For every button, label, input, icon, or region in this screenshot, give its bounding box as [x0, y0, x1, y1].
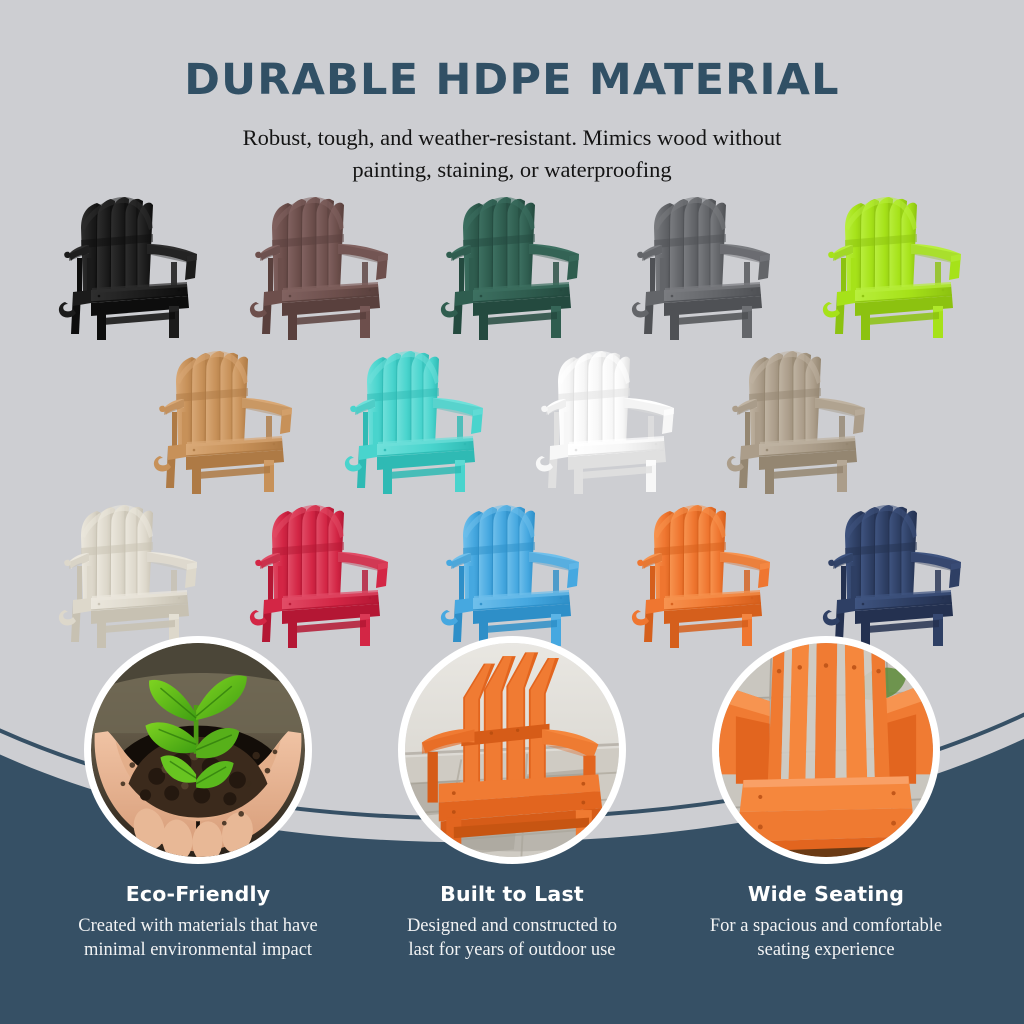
feature-desc-line-2: minimal environmental impact: [73, 938, 323, 962]
feature-desc-line-2: seating experience: [701, 938, 951, 962]
adirondack-chair-ivory-beige: [47, 500, 214, 650]
adirondack-chair-lime-green: [811, 192, 978, 342]
feature-title: Eco-Friendly: [73, 882, 323, 906]
feature-title: Wide Seating: [701, 882, 951, 906]
chair-swatch-orange[interactable]: [620, 500, 787, 650]
subtitle-line-2: painting, staining, or waterproofing: [0, 154, 1024, 186]
feature-desc-line-1: For a spacious and comfortable: [701, 914, 951, 938]
chair-swatch-weathered-taupe[interactable]: [715, 346, 882, 496]
feature-image-circle-2: [398, 636, 626, 864]
feature-wide-seating: Wide Seating For a spacious and comforta…: [701, 636, 951, 962]
chair-swatch-turquoise[interactable]: [333, 346, 500, 496]
feature-title: Built to Last: [387, 882, 637, 906]
subtitle-line-1: Robust, tough, and weather-resistant. Mi…: [0, 122, 1024, 154]
orange-adirondack-chair-on-patio-icon: [405, 643, 619, 857]
adirondack-chair-orange: [620, 500, 787, 650]
adirondack-chair-black: [47, 192, 214, 342]
chair-swatch-navy-blue[interactable]: [811, 500, 978, 650]
feature-description: For a spacious and comfortable seating e…: [701, 914, 951, 962]
feature-eco-friendly: Eco-Friendly Created with materials that…: [73, 636, 323, 962]
chair-swatch-red[interactable]: [238, 500, 405, 650]
page-subtitle: Robust, tough, and weather-resistant. Mi…: [0, 122, 1024, 186]
adirondack-chair-cedar-tan: [142, 346, 309, 496]
adirondack-chair-sky-blue: [429, 500, 596, 650]
feature-description: Created with materials that have minimal…: [73, 914, 323, 962]
page-title: DURABLE HDPE MATERIAL: [0, 58, 1024, 103]
chair-row-3: [0, 500, 1024, 650]
feature-built-to-last: Built to Last Designed and constructed t…: [387, 636, 637, 962]
hands-holding-soil-seedling-icon: [91, 643, 305, 857]
chair-swatch-ivory-beige[interactable]: [47, 500, 214, 650]
orange-chair-wide-seat-closeup-icon: [719, 643, 933, 857]
adirondack-chair-turquoise: [333, 346, 500, 496]
feature-image-circle-1: [84, 636, 312, 864]
chair-swatch-gray[interactable]: [620, 192, 787, 342]
chair-row-2: [0, 346, 1024, 496]
chair-swatch-black[interactable]: [47, 192, 214, 342]
adirondack-chair-dark-green: [429, 192, 596, 342]
adirondack-chair-brown: [238, 192, 405, 342]
adirondack-chair-red: [238, 500, 405, 650]
header-block: DURABLE HDPE MATERIAL Robust, tough, and…: [0, 0, 1024, 186]
chair-color-grid: [0, 192, 1024, 650]
chair-row-1: [0, 192, 1024, 342]
chair-swatch-brown[interactable]: [238, 192, 405, 342]
adirondack-chair-white: [524, 346, 691, 496]
chair-swatch-dark-green[interactable]: [429, 192, 596, 342]
chair-swatch-sky-blue[interactable]: [429, 500, 596, 650]
features-section: Eco-Friendly Created with materials that…: [0, 636, 1024, 962]
feature-description: Designed and constructed to last for yea…: [387, 914, 637, 962]
chair-swatch-cedar-tan[interactable]: [142, 346, 309, 496]
adirondack-chair-weathered-taupe: [715, 346, 882, 496]
adirondack-chair-gray: [620, 192, 787, 342]
chair-swatch-white[interactable]: [524, 346, 691, 496]
feature-row: Eco-Friendly Created with materials that…: [0, 636, 1024, 962]
infographic-canvas: DURABLE HDPE MATERIAL Robust, tough, and…: [0, 0, 1024, 1024]
feature-desc-line-1: Designed and constructed to: [387, 914, 637, 938]
feature-desc-line-2: last for years of outdoor use: [387, 938, 637, 962]
adirondack-chair-navy-blue: [811, 500, 978, 650]
chair-swatch-lime-green[interactable]: [811, 192, 978, 342]
feature-image-circle-3: [712, 636, 940, 864]
feature-desc-line-1: Created with materials that have: [73, 914, 323, 938]
